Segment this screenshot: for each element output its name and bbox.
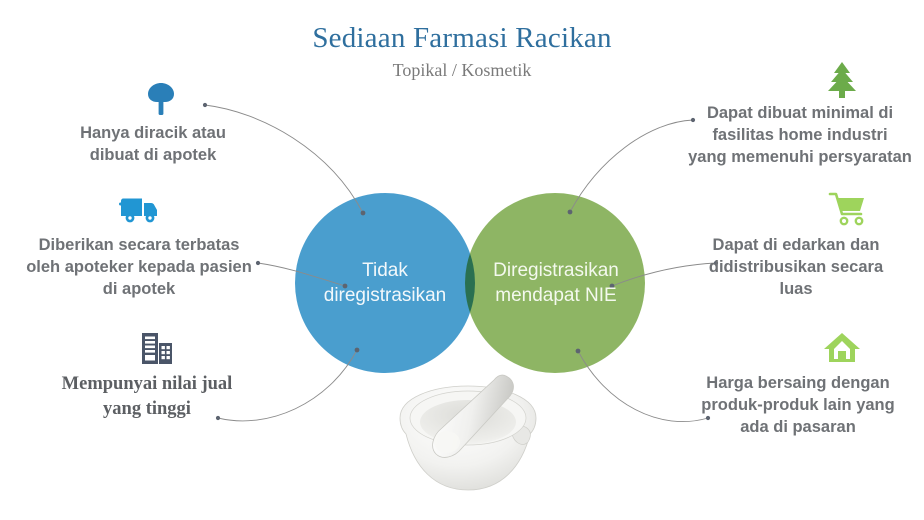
mortar-and-pestle-image bbox=[388, 362, 548, 512]
callout-right-1[interactable]: Dapat dibuat minimal di fasilitas home i… bbox=[676, 60, 924, 168]
pestle-head-highlight bbox=[434, 431, 460, 453]
infographic-canvas: Sediaan Farmasi Racikan Topikal / Kosmet… bbox=[0, 0, 924, 520]
callout-line: Diberikan secara terbatas bbox=[8, 234, 270, 256]
callout-left-1[interactable]: Hanya diracik atau dibuat di apotek bbox=[28, 80, 278, 166]
home-house-icon bbox=[823, 330, 861, 366]
page-title: Sediaan Farmasi Racikan bbox=[0, 22, 924, 55]
callout-line: Hanya diracik atau bbox=[28, 122, 278, 144]
callout-line: produk-produk lain yang bbox=[676, 394, 920, 416]
venn-circle-right[interactable] bbox=[465, 193, 645, 373]
callout-left-1-text: Hanya diracik atau dibuat di apotek bbox=[28, 122, 278, 166]
callout-line: Mempunyai nilai jual bbox=[22, 372, 272, 397]
callout-line: yang tinggi bbox=[22, 397, 272, 422]
icon-wrap bbox=[22, 330, 282, 372]
callout-line: luas bbox=[672, 278, 920, 300]
callout-right-3[interactable]: Harga bersaing dengan produk-produk lain… bbox=[676, 330, 920, 438]
shopping-cart-icon bbox=[828, 192, 868, 228]
callout-line: di apotek bbox=[8, 278, 270, 300]
callout-line: dibuat di apotek bbox=[28, 144, 278, 166]
callout-left-2-text: Diberikan secara terbatas oleh apoteker … bbox=[8, 234, 270, 300]
callout-right-2[interactable]: Dapat di edarkan dan didistribusikan sec… bbox=[672, 192, 920, 300]
callout-right-3-text: Harga bersaing dengan produk-produk lain… bbox=[676, 372, 920, 438]
callout-line: yang memenuhi persyaratan bbox=[676, 146, 924, 168]
icon-wrap bbox=[672, 192, 924, 234]
delivery-truck-icon bbox=[118, 192, 160, 226]
tree-broadleaf-icon bbox=[141, 80, 181, 118]
venn-circle-left[interactable] bbox=[295, 193, 475, 373]
callout-right-2-text: Dapat di edarkan dan didistribusikan sec… bbox=[672, 234, 920, 300]
venn-diagram: Tidak diregistrasikan Diregistrasikan me… bbox=[295, 193, 635, 378]
callout-line: Dapat di edarkan dan bbox=[672, 234, 920, 256]
icon-wrap bbox=[8, 192, 270, 234]
office-buildings-icon bbox=[138, 330, 176, 368]
callout-line: oleh apoteker kepada pasien bbox=[8, 256, 270, 278]
callout-line: Harga bersaing dengan bbox=[676, 372, 920, 394]
icon-wrap bbox=[28, 80, 286, 122]
pine-tree-icon bbox=[824, 60, 860, 100]
callout-line: ada di pasaran bbox=[676, 416, 920, 438]
callout-line: fasilitas home industri bbox=[676, 124, 924, 146]
icon-wrap bbox=[676, 60, 924, 102]
callout-line: Dapat dibuat minimal di bbox=[676, 102, 924, 124]
icon-wrap bbox=[676, 330, 924, 372]
callout-line: didistribusikan secara bbox=[672, 256, 920, 278]
callout-left-3[interactable]: Mempunyai nilai jual yang tinggi bbox=[22, 330, 272, 422]
callout-right-1-text: Dapat dibuat minimal di fasilitas home i… bbox=[676, 102, 924, 168]
callout-left-2[interactable]: Diberikan secara terbatas oleh apoteker … bbox=[8, 192, 270, 300]
callout-left-3-text: Mempunyai nilai jual yang tinggi bbox=[22, 372, 272, 422]
